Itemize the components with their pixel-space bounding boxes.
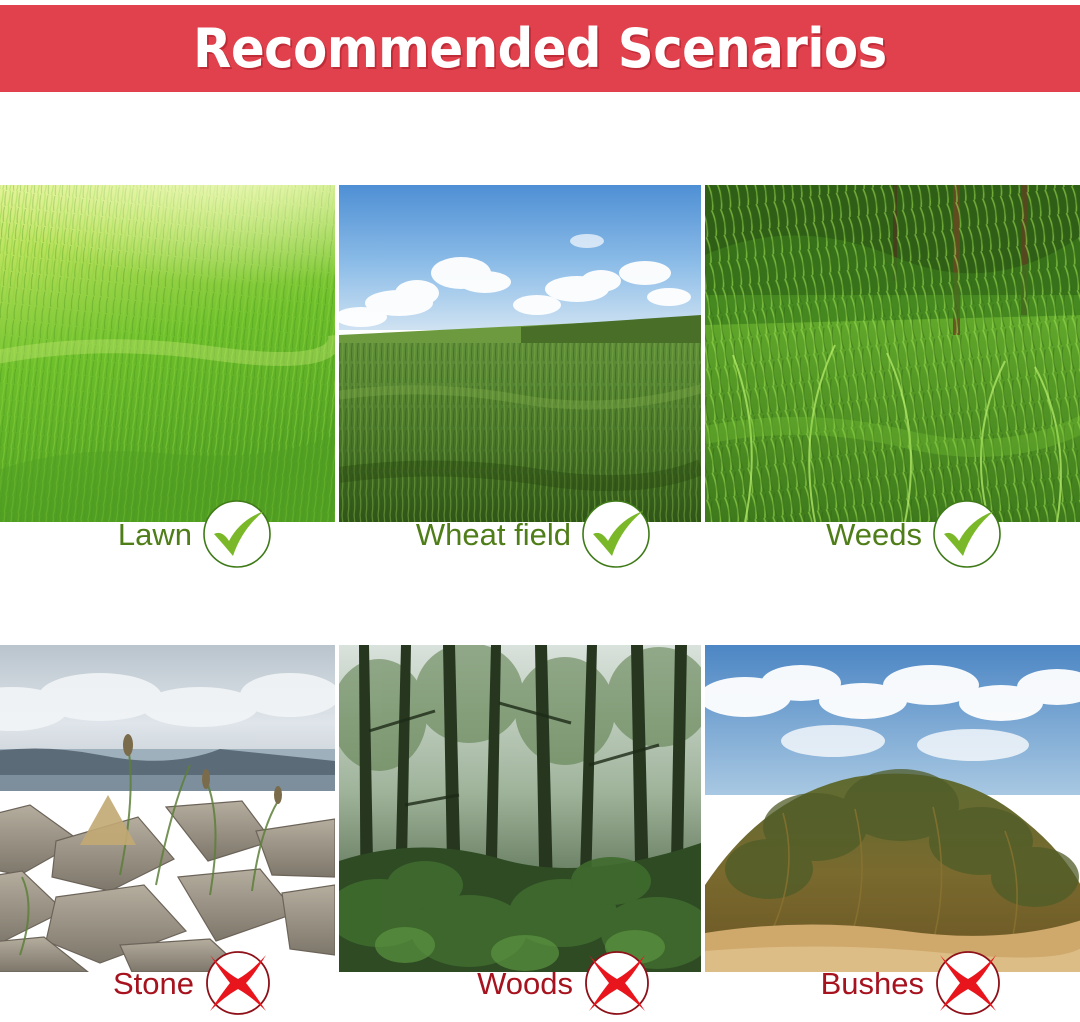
- check-circle-icon: [932, 499, 1002, 569]
- woods-photo-illustration: [339, 645, 701, 972]
- scenario-photo-woods: [339, 645, 701, 972]
- stone-photo-illustration: [0, 645, 335, 972]
- lawn-photo-illustration: [0, 185, 335, 522]
- check-circle-icon: [581, 499, 651, 569]
- scenario-caption-stone: Stone: [0, 948, 272, 1018]
- scenario-caption-weeds: Weeds: [705, 498, 1002, 570]
- scenario-photo-bushes: [705, 645, 1080, 972]
- scenario-card-bushes[interactable]: [705, 645, 1080, 972]
- check-circle-icon: [202, 499, 272, 569]
- cross-circle-icon: [583, 949, 651, 1017]
- scenario-label-stone: Stone: [113, 968, 194, 999]
- scenario-label-weeds: Weeds: [826, 519, 922, 550]
- scenario-card-weeds[interactable]: [705, 185, 1080, 522]
- scenario-photo-stone: [0, 645, 335, 972]
- scenario-label-bushes: Bushes: [821, 968, 924, 999]
- scenario-photo-wheat-field: [339, 185, 701, 522]
- scenario-label-lawn: Lawn: [118, 519, 192, 550]
- bushes-photo-illustration: [705, 645, 1080, 972]
- cross-circle-icon: [934, 949, 1002, 1017]
- scenario-label-woods: Woods: [477, 968, 573, 999]
- scenario-caption-lawn: Lawn: [0, 498, 272, 570]
- scenario-card-stone[interactable]: [0, 645, 335, 972]
- scenario-photo-lawn: [0, 185, 335, 522]
- scenario-caption-wheat-field: Wheat field: [339, 498, 651, 570]
- scenario-card-woods[interactable]: [339, 645, 701, 972]
- scenario-caption-bushes: Bushes: [705, 948, 1002, 1018]
- scenario-caption-woods: Woods: [339, 948, 651, 1018]
- scenario-grid: Lawn: [0, 0, 1080, 1022]
- scenario-label-wheat-field: Wheat field: [416, 519, 571, 550]
- wheat-field-photo-illustration: [339, 185, 701, 522]
- scenario-photo-weeds: [705, 185, 1080, 522]
- cross-circle-icon: [204, 949, 272, 1017]
- scenario-card-lawn[interactable]: [0, 185, 335, 522]
- weeds-photo-illustration: [705, 185, 1080, 522]
- scenario-card-wheat-field[interactable]: [339, 185, 701, 522]
